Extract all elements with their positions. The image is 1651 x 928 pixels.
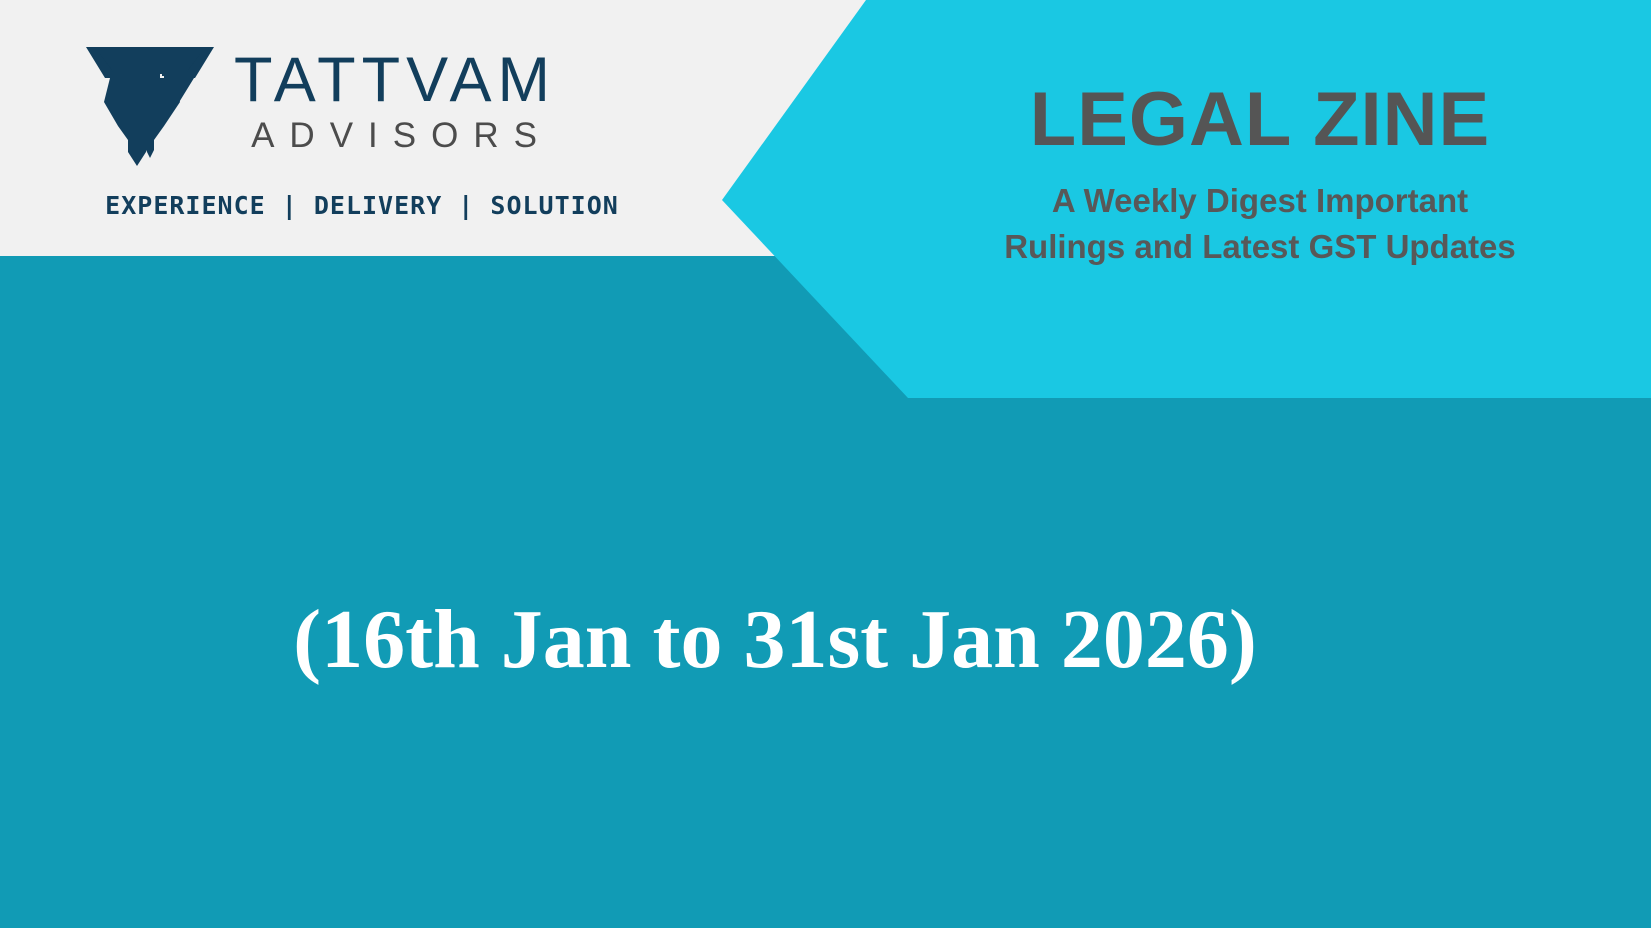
date-range-title: (16th Jan to 31st Jan 2026): [0, 592, 1550, 688]
zine-subtitle-line-2: Rulings and Latest GST Updates: [880, 224, 1640, 270]
tattvam-t-monogram-icon: [84, 42, 216, 166]
brand-row: TATTVAM ADVISORS: [84, 42, 556, 166]
brand-block: TATTVAM ADVISORS EXPERIENCE | DELIVERY |…: [0, 0, 700, 256]
wordmark-block: TATTVAM ADVISORS: [234, 42, 556, 156]
zine-title: LEGAL ZINE: [880, 78, 1640, 162]
brand-wordmark: TATTVAM: [234, 48, 556, 112]
zine-subtitle-line-1: A Weekly Digest Important: [880, 178, 1640, 224]
brand-tagline: EXPERIENCE | DELIVERY | SOLUTION: [84, 188, 640, 223]
legal-zine-cover-slide: TATTVAM ADVISORS EXPERIENCE | DELIVERY |…: [0, 0, 1651, 928]
zine-heading-block: LEGAL ZINE A Weekly Digest Important Rul…: [880, 78, 1640, 270]
brand-sub-wordmark: ADVISORS: [234, 116, 556, 156]
zine-subtitle: A Weekly Digest Important Rulings and La…: [880, 178, 1640, 270]
